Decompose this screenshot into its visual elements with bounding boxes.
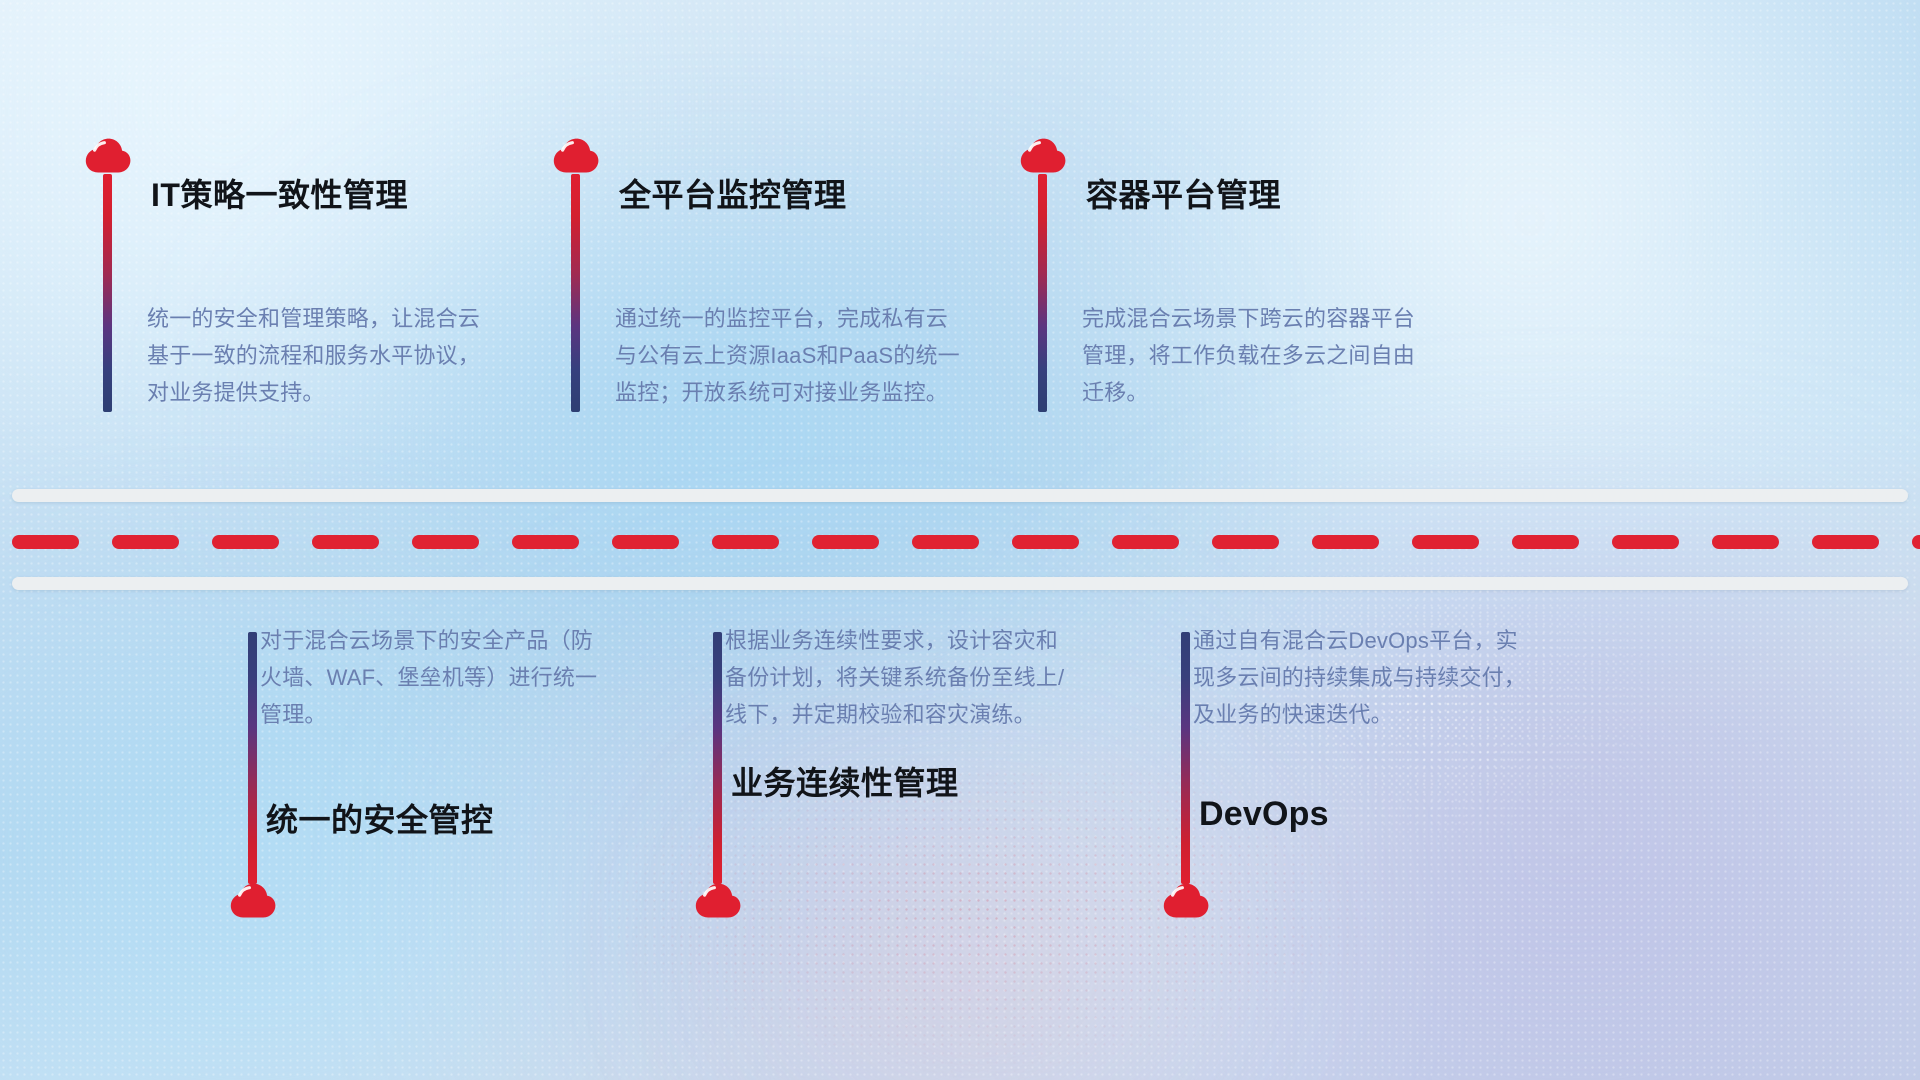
road-dash <box>412 535 479 549</box>
road-dash <box>712 535 779 549</box>
node-title: DevOps <box>1199 795 1538 834</box>
node-title-wrap-5: 业务连续性管理 <box>731 758 1070 804</box>
road-dash <box>312 535 379 549</box>
cloud-icon <box>695 883 741 919</box>
road-dash <box>1612 535 1679 549</box>
road-dash <box>1112 535 1179 549</box>
road-dash <box>812 535 879 549</box>
road-dash <box>1512 535 1579 549</box>
node-body: 完成混合云场景下跨云的容器平台管理，将工作负载在多云之间自由迁移。 <box>1082 300 1427 411</box>
pin-line-6 <box>1181 632 1190 884</box>
road-dash <box>1012 535 1079 549</box>
node-title-wrap-4: 统一的安全管控 <box>266 795 605 841</box>
node-title: 业务连续性管理 <box>731 758 1070 804</box>
road-dash <box>612 535 679 549</box>
road-dash <box>912 535 979 549</box>
node-bottom-2: 根据业务连续性要求，设计容灾和备份计划，将关键系统备份至线上/线下，并定期校验和… <box>695 632 1070 804</box>
road-dash-row <box>0 535 1920 549</box>
cloud-icon <box>553 138 599 174</box>
road-dash <box>112 535 179 549</box>
road-dash <box>1412 535 1479 549</box>
road-dash <box>1212 535 1279 549</box>
road-dash <box>1812 535 1879 549</box>
pin-stem-6 <box>1163 632 1209 919</box>
cloud-icon <box>1163 883 1209 919</box>
pin-stem-3 <box>1020 138 1066 412</box>
road-dash <box>1312 535 1379 549</box>
node-top-1: IT策略一致性管理 统一的安全和管理策略，让混合云基于一致的流程和服务水平协议，… <box>85 138 492 411</box>
road-dash <box>512 535 579 549</box>
node-title: 统一的安全管控 <box>266 795 605 841</box>
pin-line-4 <box>248 632 257 884</box>
road-dash <box>212 535 279 549</box>
node-bottom-3: 通过自有混合云DevOps平台，实现多云间的持续集成与持续交付，及业务的快速迭代… <box>1163 632 1538 834</box>
node-title-wrap-6: DevOps <box>1199 795 1538 834</box>
node-title-wrap-1: IT策略一致性管理 <box>151 170 408 216</box>
pin-line-2 <box>571 174 580 412</box>
road-edge-top <box>12 489 1908 502</box>
node-title: IT策略一致性管理 <box>151 170 408 216</box>
node-title: 全平台监控管理 <box>619 170 847 216</box>
pin-stem-5 <box>695 632 741 919</box>
node-title-wrap-2: 全平台监控管理 <box>619 170 847 216</box>
pin-line-5 <box>713 632 722 884</box>
infographic-canvas: IT策略一致性管理 统一的安全和管理策略，让混合云基于一致的流程和服务水平协议，… <box>0 0 1920 1080</box>
node-body: 通过统一的监控平台，完成私有云与公有云上资源IaaS和PaaS的统一监控；开放系… <box>615 300 960 411</box>
node-bottom-1: 对于混合云场景下的安全产品（防火墙、WAF、堡垒机等）进行统一管理。 统一的安全… <box>230 632 605 841</box>
node-top-3: 容器平台管理 完成混合云场景下跨云的容器平台管理，将工作负载在多云之间自由迁移。 <box>1020 138 1427 411</box>
node-body: 根据业务连续性要求，设计容灾和备份计划，将关键系统备份至线上/线下，并定期校验和… <box>725 622 1070 733</box>
pin-line-1 <box>103 174 112 412</box>
pin-stem-1 <box>85 138 131 412</box>
pin-stem-2 <box>553 138 599 412</box>
node-body: 对于混合云场景下的安全产品（防火墙、WAF、堡垒机等）进行统一管理。 <box>260 622 605 733</box>
node-title: 容器平台管理 <box>1086 170 1281 216</box>
road-dash <box>1712 535 1779 549</box>
cloud-icon <box>230 883 276 919</box>
pin-stem-4 <box>230 632 276 919</box>
node-body: 统一的安全和管理策略，让混合云基于一致的流程和服务水平协议，对业务提供支持。 <box>147 300 492 411</box>
cloud-icon <box>85 138 131 174</box>
node-top-2: 全平台监控管理 通过统一的监控平台，完成私有云与公有云上资源IaaS和PaaS的… <box>553 138 960 411</box>
node-title-wrap-3: 容器平台管理 <box>1086 170 1281 216</box>
node-body: 通过自有混合云DevOps平台，实现多云间的持续集成与持续交付，及业务的快速迭代… <box>1193 622 1538 733</box>
road-dash <box>1912 535 1920 549</box>
road-edge-bottom <box>12 577 1908 590</box>
cloud-icon <box>1020 138 1066 174</box>
pin-line-3 <box>1038 174 1047 412</box>
road-dash <box>12 535 79 549</box>
